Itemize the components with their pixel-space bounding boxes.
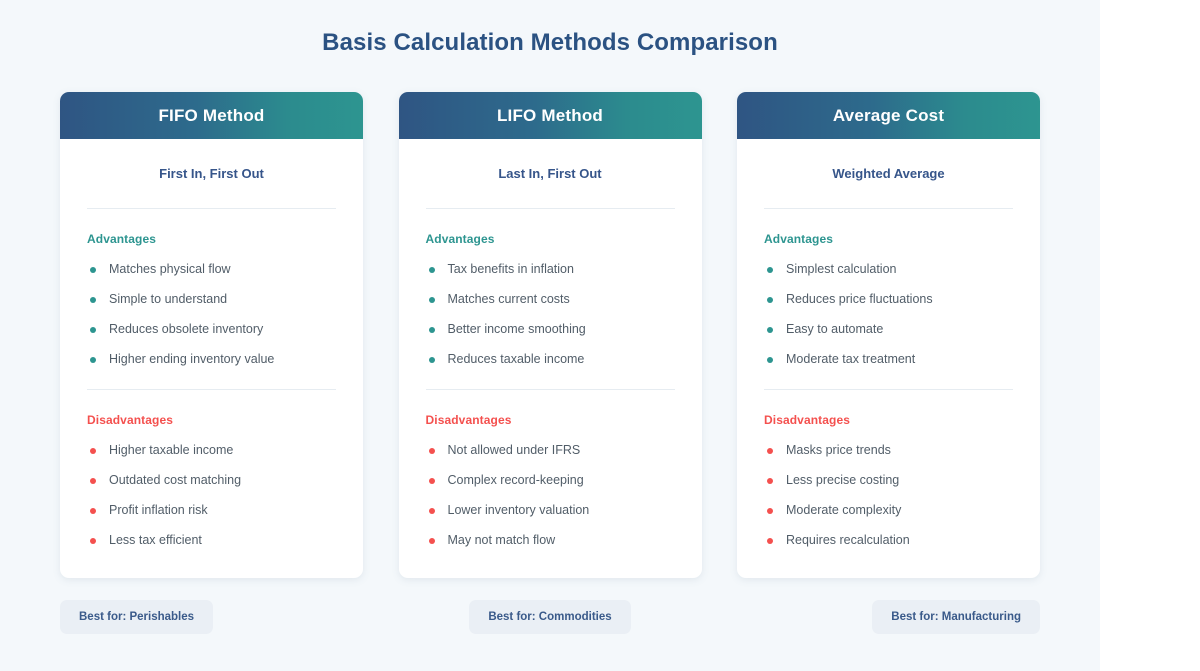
bullet-dot-icon [767, 267, 773, 273]
bullet-dot-icon [429, 508, 435, 514]
card-title: FIFO Method [158, 106, 264, 126]
list-item-label: Easy to automate [786, 322, 883, 337]
list-item-label: Requires recalculation [786, 533, 910, 548]
list-item: Simplest calculation [764, 262, 1013, 277]
bullet-dot-icon [429, 448, 435, 454]
bullet-dot-icon [429, 538, 435, 544]
method-card: Average Cost Weighted Average Advantages… [737, 92, 1040, 578]
list-item-label: Matches physical flow [109, 262, 231, 277]
badge-cell: Best for: Perishables [60, 600, 363, 634]
list-item: Better income smoothing [426, 322, 675, 337]
list-item-label: May not match flow [448, 533, 556, 548]
list-item-label: Tax benefits in inflation [448, 262, 574, 277]
advantages-heading: Advantages [764, 232, 1013, 246]
bullet-dot-icon [90, 448, 96, 454]
card-subtitle: First In, First Out [87, 166, 336, 181]
list-item: Matches current costs [426, 292, 675, 307]
bullet-dot-icon [767, 297, 773, 303]
list-item: Moderate tax treatment [764, 352, 1013, 367]
advantages-list: Tax benefits in inflation Matches curren… [426, 262, 675, 367]
list-item: Matches physical flow [87, 262, 336, 277]
list-item-label: Profit inflation risk [109, 503, 208, 518]
list-item: Moderate complexity [764, 503, 1013, 518]
disadvantages-heading: Disadvantages [87, 413, 336, 427]
advantages-section: Advantages Simplest calculation Reduces … [764, 209, 1013, 389]
status-badge: Best for: Commodities [469, 600, 630, 634]
badge-cell: Best for: Commodities [399, 600, 702, 634]
card-body: First In, First Out Advantages Matches p… [60, 139, 363, 578]
list-item: Outdated cost matching [87, 473, 336, 488]
bullet-dot-icon [767, 327, 773, 333]
method-card: LIFO Method Last In, First Out Advantage… [399, 92, 702, 578]
card-title: Average Cost [833, 106, 944, 126]
advantages-section: Advantages Tax benefits in inflation Mat… [426, 209, 675, 389]
list-item: Not allowed under IFRS [426, 443, 675, 458]
advantages-list: Simplest calculation Reduces price fluct… [764, 262, 1013, 367]
disadvantages-list: Masks price trends Less precise costing … [764, 443, 1013, 548]
bullet-dot-icon [767, 357, 773, 363]
status-badge: Best for: Perishables [60, 600, 213, 634]
list-item: Masks price trends [764, 443, 1013, 458]
bullet-dot-icon [429, 297, 435, 303]
list-item-label: Better income smoothing [448, 322, 586, 337]
list-item-label: Simple to understand [109, 292, 227, 307]
list-item: Less precise costing [764, 473, 1013, 488]
list-item-label: Reduces price fluctuations [786, 292, 933, 307]
bullet-dot-icon [90, 508, 96, 514]
card-subtitle: Weighted Average [764, 166, 1013, 181]
list-item-label: Less tax efficient [109, 533, 202, 548]
page-title: Basis Calculation Methods Comparison [0, 29, 1100, 57]
list-item-label: Outdated cost matching [109, 473, 241, 488]
advantages-heading: Advantages [426, 232, 675, 246]
card-title: LIFO Method [497, 106, 603, 126]
method-card: FIFO Method First In, First Out Advantag… [60, 92, 363, 578]
card-body: Weighted Average Advantages Simplest cal… [737, 139, 1040, 578]
list-item-label: Matches current costs [448, 292, 570, 307]
list-item-label: Reduces taxable income [448, 352, 585, 367]
list-item-label: Complex record-keeping [448, 473, 584, 488]
bullet-dot-icon [90, 478, 96, 484]
list-item-label: Masks price trends [786, 443, 891, 458]
best-for-badges-row: Best for: Perishables Best for: Commodit… [0, 600, 1100, 634]
list-item-label: Higher ending inventory value [109, 352, 274, 367]
disadvantages-section: Disadvantages Not allowed under IFRS Com… [426, 390, 675, 578]
disadvantages-list: Not allowed under IFRS Complex record-ke… [426, 443, 675, 548]
list-item: Reduces taxable income [426, 352, 675, 367]
status-badge: Best for: Manufacturing [872, 600, 1040, 634]
list-item: Higher taxable income [87, 443, 336, 458]
list-item-label: Not allowed under IFRS [448, 443, 581, 458]
list-item-label: Simplest calculation [786, 262, 896, 277]
disadvantages-section: Disadvantages Masks price trends Less pr… [764, 390, 1013, 578]
list-item: Simple to understand [87, 292, 336, 307]
disadvantages-list: Higher taxable income Outdated cost matc… [87, 443, 336, 548]
bullet-dot-icon [429, 327, 435, 333]
bullet-dot-icon [767, 448, 773, 454]
bullet-dot-icon [90, 538, 96, 544]
comparison-page: Basis Calculation Methods Comparison FIF… [0, 0, 1100, 671]
list-item-label: Higher taxable income [109, 443, 233, 458]
card-header: Average Cost [737, 92, 1040, 139]
badge-cell: Best for: Manufacturing [737, 600, 1040, 634]
bullet-dot-icon [429, 357, 435, 363]
list-item-label: Moderate tax treatment [786, 352, 915, 367]
bullet-dot-icon [429, 478, 435, 484]
advantages-section: Advantages Matches physical flow Simple … [87, 209, 336, 389]
bullet-dot-icon [767, 508, 773, 514]
method-cards-row: FIFO Method First In, First Out Advantag… [0, 92, 1100, 578]
list-item: Less tax efficient [87, 533, 336, 548]
list-item: Complex record-keeping [426, 473, 675, 488]
card-header: LIFO Method [399, 92, 702, 139]
bullet-dot-icon [90, 327, 96, 333]
list-item: Easy to automate [764, 322, 1013, 337]
advantages-heading: Advantages [87, 232, 336, 246]
list-item: Profit inflation risk [87, 503, 336, 518]
list-item: Reduces price fluctuations [764, 292, 1013, 307]
bullet-dot-icon [90, 357, 96, 363]
list-item: May not match flow [426, 533, 675, 548]
list-item-label: Reduces obsolete inventory [109, 322, 263, 337]
card-subtitle: Last In, First Out [426, 166, 675, 181]
list-item-label: Moderate complexity [786, 503, 901, 518]
bullet-dot-icon [90, 297, 96, 303]
disadvantages-heading: Disadvantages [426, 413, 675, 427]
disadvantages-heading: Disadvantages [764, 413, 1013, 427]
list-item: Reduces obsolete inventory [87, 322, 336, 337]
list-item: Requires recalculation [764, 533, 1013, 548]
bullet-dot-icon [767, 478, 773, 484]
bullet-dot-icon [90, 267, 96, 273]
advantages-list: Matches physical flow Simple to understa… [87, 262, 336, 367]
list-item-label: Lower inventory valuation [448, 503, 590, 518]
list-item: Higher ending inventory value [87, 352, 336, 367]
list-item-label: Less precise costing [786, 473, 899, 488]
list-item: Tax benefits in inflation [426, 262, 675, 277]
card-body: Last In, First Out Advantages Tax benefi… [399, 139, 702, 578]
bullet-dot-icon [429, 267, 435, 273]
disadvantages-section: Disadvantages Higher taxable income Outd… [87, 390, 336, 578]
list-item: Lower inventory valuation [426, 503, 675, 518]
card-header: FIFO Method [60, 92, 363, 139]
bullet-dot-icon [767, 538, 773, 544]
